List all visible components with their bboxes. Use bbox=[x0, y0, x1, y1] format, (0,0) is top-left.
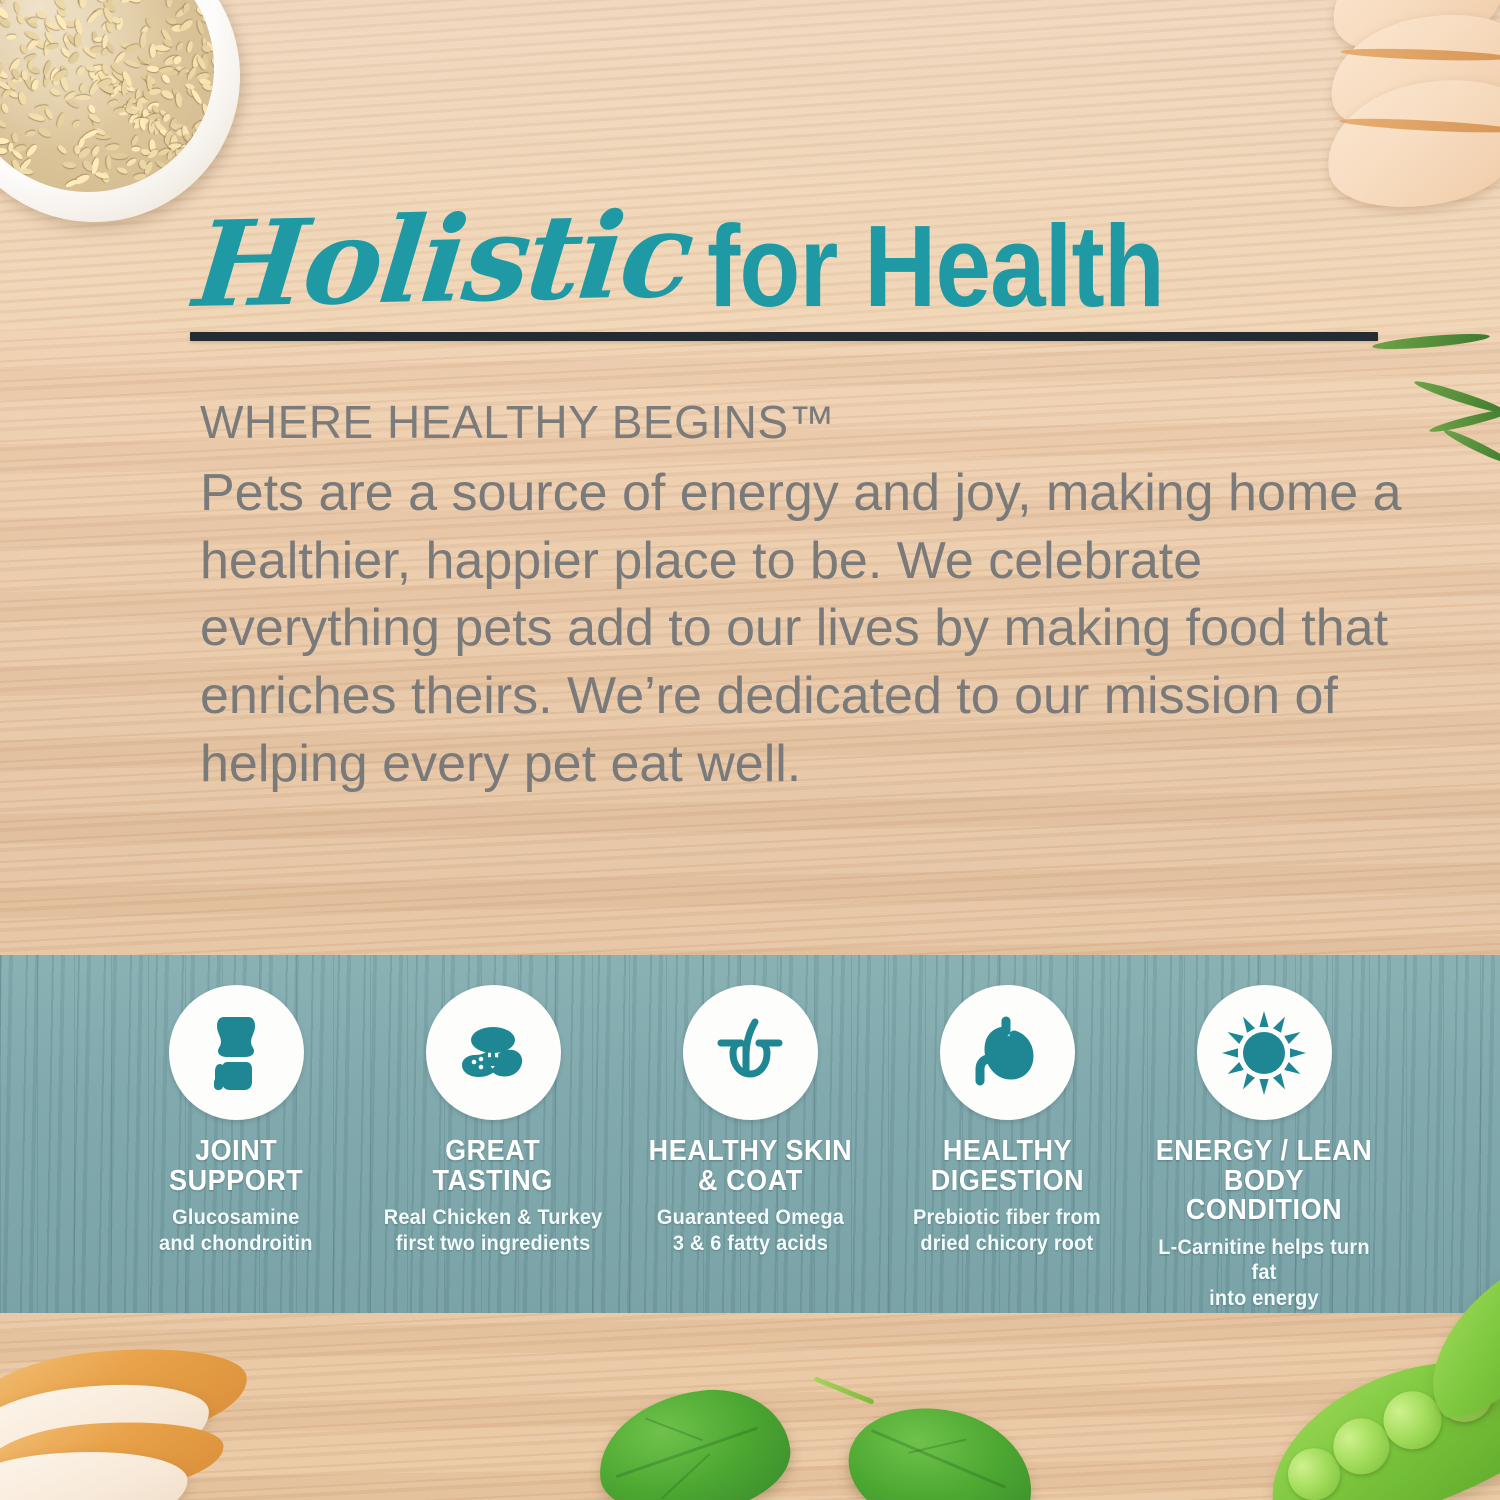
grain-kernel bbox=[74, 33, 82, 48]
grain-kernel bbox=[111, 153, 128, 159]
grain-kernel bbox=[147, 66, 160, 73]
benefit-item-digestion: HEALTHY DIGESTION Prebiotic fiber from d… bbox=[889, 985, 1125, 1256]
knee-joint-icon bbox=[169, 985, 304, 1120]
grain-kernel bbox=[187, 67, 198, 81]
grain-kernel bbox=[18, 92, 28, 107]
grain-kernel bbox=[38, 126, 54, 138]
grain-kernel bbox=[182, 2, 190, 13]
dog-snout-tongue-icon bbox=[426, 985, 561, 1120]
benefit-title: HEALTHY SKIN & COAT bbox=[648, 1137, 851, 1196]
grain-kernel bbox=[24, 129, 36, 137]
grain-kernel bbox=[6, 34, 17, 40]
grain-kernel bbox=[14, 144, 28, 153]
grain-kernel bbox=[71, 119, 82, 129]
grain-kernel bbox=[23, 29, 40, 42]
grain-kernel bbox=[212, 69, 214, 76]
benefit-subtitle: Prebiotic fiber from dried chicory root bbox=[913, 1205, 1101, 1256]
benefits-list: JOINT SUPPORT Glucosamine and chondroiti… bbox=[0, 955, 1500, 1313]
grain-kernel bbox=[80, 0, 87, 9]
benefits-band: JOINT SUPPORT Glucosamine and chondroiti… bbox=[0, 955, 1500, 1313]
title-divider bbox=[190, 332, 1378, 341]
grain-kernel bbox=[21, 70, 29, 81]
grain-kernel bbox=[0, 0, 6, 3]
benefit-subtitle: Glucosamine and chondroitin bbox=[159, 1205, 313, 1256]
grain-kernel bbox=[123, 58, 139, 68]
grain-kernel bbox=[141, 148, 151, 155]
benefit-title: ENERGY / LEAN BODY CONDITION bbox=[1154, 1137, 1373, 1226]
benefit-item-joint-support: JOINT SUPPORT Glucosamine and chondroiti… bbox=[118, 985, 354, 1256]
grain-kernel bbox=[131, 135, 140, 147]
benefit-subtitle: Real Chicken & Turkey first two ingredie… bbox=[384, 1205, 603, 1256]
tagline-eyebrow: WHERE HEALTHY BEGINS™ bbox=[200, 398, 1435, 446]
grain-kernel bbox=[25, 143, 39, 158]
body-copy: WHERE HEALTHY BEGINS™ Pets are a source … bbox=[200, 398, 1435, 798]
benefit-item-energy: ENERGY / LEAN BODY CONDITION L-Carnitine… bbox=[1146, 985, 1382, 1312]
benefit-item-skin-coat: HEALTHY SKIN & COAT Guaranteed Omega 3 &… bbox=[632, 985, 868, 1256]
grain-kernel bbox=[79, 83, 87, 93]
benefit-subtitle: Guaranteed Omega 3 & 6 fatty acids bbox=[656, 1205, 843, 1256]
benefit-title: GREAT TASTING bbox=[433, 1137, 553, 1196]
grain-kernel bbox=[105, 143, 120, 151]
grain-kernel bbox=[84, 63, 96, 73]
hair-follicle-icon bbox=[683, 985, 818, 1120]
grain-kernel bbox=[0, 118, 8, 129]
roasted-chicken-image bbox=[0, 1345, 318, 1500]
grain-kernel bbox=[125, 158, 137, 168]
benefit-title: JOINT SUPPORT bbox=[169, 1137, 303, 1196]
grain-kernel bbox=[116, 166, 128, 174]
grain-kernel bbox=[49, 87, 62, 97]
benefit-title: HEALTHY DIGESTION bbox=[930, 1137, 1083, 1196]
grain-kernel bbox=[0, 148, 7, 154]
grain-kernel bbox=[56, 112, 67, 128]
grain-kernel bbox=[150, 44, 156, 58]
page-title: Holistic for Health bbox=[190, 175, 1390, 320]
grain-kernel bbox=[76, 94, 91, 99]
grain-kernel bbox=[0, 102, 9, 113]
grain-kernel bbox=[131, 147, 140, 152]
stomach-icon bbox=[940, 985, 1075, 1120]
title-block-words: for Health bbox=[707, 213, 1164, 320]
grain-kernel bbox=[56, 144, 67, 155]
benefit-subtitle: L-Carnitine helps turn fat into energy bbox=[1152, 1235, 1376, 1312]
grain-kernel bbox=[90, 144, 101, 157]
promo-panel: Holistic for Health WHERE HEALTHY BEGINS… bbox=[0, 0, 1500, 1500]
grain-kernel bbox=[178, 18, 194, 33]
grain-kernel bbox=[87, 10, 100, 24]
mission-paragraph: Pets are a source of energy and joy, mak… bbox=[200, 460, 1435, 798]
sun-icon bbox=[1197, 985, 1332, 1120]
grain-kernel bbox=[63, 161, 77, 169]
grain-kernel bbox=[16, 13, 25, 24]
benefit-item-great-tasting: GREAT TASTING Real Chicken & Turkey firs… bbox=[375, 985, 611, 1256]
grain-kernel bbox=[186, 40, 194, 53]
grain-kernel bbox=[0, 138, 9, 144]
grain-kernel bbox=[166, 0, 173, 8]
grain-kernel bbox=[106, 155, 112, 169]
grain-kernel bbox=[175, 42, 184, 53]
grain-kernel bbox=[13, 1, 21, 14]
grain-kernel bbox=[139, 31, 147, 48]
grain-kernel bbox=[54, 0, 68, 10]
title-script-word: Holistic bbox=[190, 201, 720, 320]
grain-kernel bbox=[43, 108, 54, 121]
grain-kernel bbox=[28, 111, 46, 122]
grain-kernel bbox=[108, 99, 120, 108]
grain-kernel bbox=[210, 57, 214, 71]
